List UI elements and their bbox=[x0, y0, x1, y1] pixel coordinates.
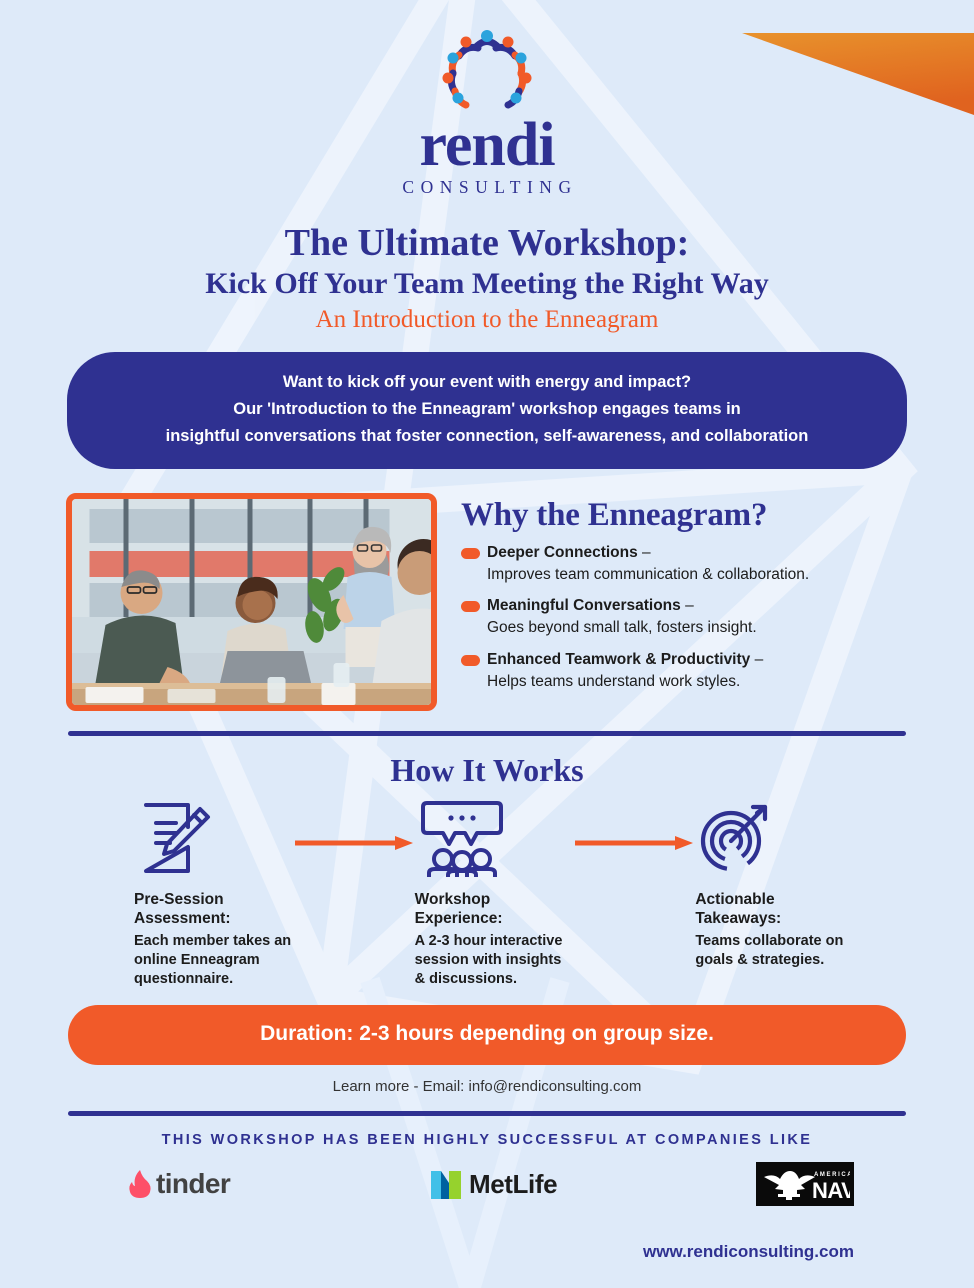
duration-text: Duration: 2-3 hours depending on group s… bbox=[260, 1022, 714, 1045]
page-title: The Ultimate Workshop: Kick Off Your Tea… bbox=[0, 222, 974, 335]
flyer-page: rendi CONSULTING The Ultimate Workshop: … bbox=[0, 0, 974, 1288]
why-bullet-3-head: Enhanced Teamwork & Productivity bbox=[487, 651, 750, 668]
tinder-flame-icon bbox=[128, 1169, 152, 1199]
how-it-works-title: How It Works bbox=[0, 752, 974, 789]
company-logos-row: tinder MetLife AMERICA'S bbox=[0, 1148, 974, 1206]
step-3: Actionable Takeaways: Teams collaborate … bbox=[695, 799, 856, 971]
step-1-desc: Each member takes an online Enneagram qu… bbox=[134, 932, 295, 990]
bullet-marker-icon bbox=[461, 548, 480, 559]
navy-eagle-icon: AMERICA'S NAVY bbox=[760, 1165, 850, 1203]
headline-subtitle: Kick Off Your Team Meeting the Right Way bbox=[0, 266, 974, 302]
why-enneagram-section: Why the Enneagram? Deeper Connections – … bbox=[0, 493, 974, 711]
divider-bottom bbox=[68, 1111, 906, 1116]
company-name-tinder: tinder bbox=[156, 1168, 230, 1200]
logo-wordmark: rendi bbox=[0, 116, 974, 175]
step-1: Pre-Session Assessment: Each member take… bbox=[134, 799, 295, 990]
arrow-right-icon bbox=[575, 835, 695, 851]
why-bullet-3-body: Helps teams understand work styles. bbox=[487, 671, 912, 693]
company-logo-tinder: tinder bbox=[128, 1168, 230, 1200]
company-name-metlife: MetLife bbox=[469, 1169, 557, 1200]
duration-banner: Duration: 2-3 hours depending on group s… bbox=[68, 1005, 906, 1065]
bullet-marker-icon bbox=[461, 601, 480, 612]
navy-wordmark: NAVY bbox=[812, 1178, 850, 1203]
divider-top bbox=[68, 731, 906, 736]
step-3-title: Actionable Takeaways: bbox=[695, 890, 856, 929]
metlife-m-icon bbox=[429, 1167, 463, 1201]
intro-banner: Want to kick off your event with energy … bbox=[67, 352, 907, 468]
banner-line-2: Our 'Introduction to the Enneagram' work… bbox=[97, 396, 877, 423]
logo-tagline: CONSULTING bbox=[0, 177, 974, 198]
why-bullet-1-body: Improves team communication & collaborat… bbox=[487, 564, 912, 586]
step-1-title: Pre-Session Assessment: bbox=[134, 890, 295, 929]
why-bullet-1-dash: – bbox=[638, 544, 651, 561]
why-section-title: Why the Enneagram? bbox=[461, 497, 912, 534]
why-bullet-2-head: Meaningful Conversations bbox=[487, 597, 681, 614]
step-2: Workshop Experience: A 2-3 hour interact… bbox=[415, 799, 576, 990]
document-pencil-icon bbox=[134, 799, 214, 877]
banner-line-1: Want to kick off your event with energy … bbox=[97, 369, 877, 396]
why-bullet-2-dash: – bbox=[681, 597, 694, 614]
speech-bubble-people-icon bbox=[415, 799, 509, 877]
why-bullet-1: Deeper Connections – Improves team commu… bbox=[461, 543, 912, 586]
headline-title: The Ultimate Workshop: bbox=[0, 222, 974, 265]
team-meeting-photo bbox=[66, 493, 437, 711]
why-bullet-2-body: Goes beyond small talk, fosters insight. bbox=[487, 617, 912, 639]
learn-more-contact[interactable]: Learn more - Email: info@rendiconsulting… bbox=[0, 1078, 974, 1095]
step-2-title: Workshop Experience: bbox=[415, 890, 576, 929]
step-2-desc: A 2-3 hour interactive session with insi… bbox=[415, 932, 576, 990]
how-it-works-steps: Pre-Session Assessment: Each member take… bbox=[0, 789, 974, 990]
company-logo-navy: AMERICA'S NAVY bbox=[756, 1162, 854, 1206]
website-url[interactable]: www.rendiconsulting.com bbox=[643, 1242, 854, 1262]
why-bullet-2: Meaningful Conversations – Goes beyond s… bbox=[461, 596, 912, 639]
why-bullet-3-dash: – bbox=[750, 651, 763, 668]
headline-tagline: An Introduction to the Enneagram bbox=[0, 306, 974, 334]
brand-logo: rendi CONSULTING bbox=[0, 0, 974, 198]
step-arrow-2 bbox=[575, 799, 695, 851]
step-arrow-1 bbox=[295, 799, 415, 851]
step-3-desc: Teams collaborate on goals & strategies. bbox=[695, 932, 856, 971]
arrow-right-icon bbox=[295, 835, 415, 851]
companies-label: THIS WORKSHOP HAS BEEN HIGHLY SUCCESSFUL… bbox=[0, 1132, 974, 1148]
why-bullet-3: Enhanced Teamwork & Productivity – Helps… bbox=[461, 650, 912, 693]
bullet-marker-icon bbox=[461, 655, 480, 666]
enneagram-people-circle-icon bbox=[433, 26, 541, 114]
banner-line-3: insightful conversations that foster con… bbox=[97, 423, 877, 450]
why-bullet-1-head: Deeper Connections bbox=[487, 544, 638, 561]
target-arrow-icon bbox=[695, 799, 775, 877]
company-logo-metlife: MetLife bbox=[429, 1167, 557, 1201]
